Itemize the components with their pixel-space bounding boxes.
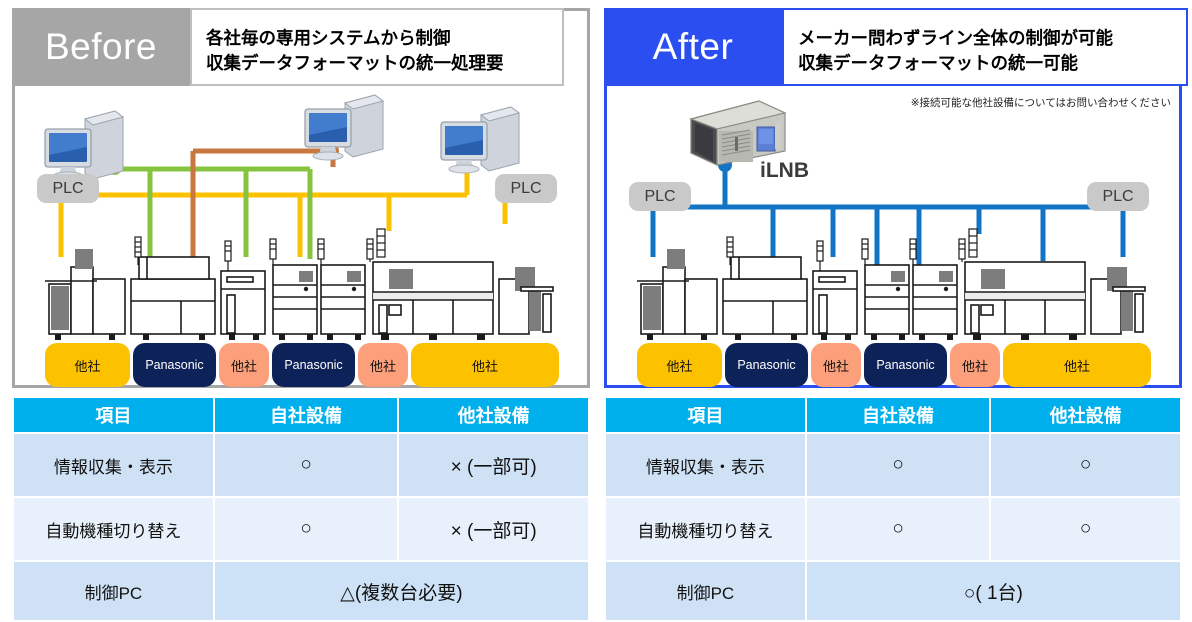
before-th-item: 項目 (14, 398, 213, 432)
before-headline-line2: 収集データフォーマットの統一処理要 (206, 51, 552, 76)
after-r0-other: ○ (991, 434, 1180, 496)
after-vendor-2: 他社 (811, 343, 861, 387)
after-vendor-1: Panasonic (725, 343, 808, 387)
before-panel: Before 各社毎の専用システムから制御 収集データフォーマットの統一処理要 (12, 8, 590, 388)
before-header: Before 各社毎の専用システムから制御 収集データフォーマットの統一処理要 (12, 8, 564, 86)
table-header-row: 項目 自社設備 他社設備 (14, 398, 588, 432)
after-plc-right: PLC (1087, 182, 1149, 211)
after-smt-line-machines (637, 249, 1145, 340)
after-headline-line1: メーカー問わずライン全体の制御が可能 (798, 26, 1176, 51)
table-row: 制御PC ○( 1台) (606, 562, 1180, 620)
before-plc-right: PLC (495, 174, 557, 203)
before-r2-merged: △(複数台必要) (215, 562, 588, 620)
table-row: 制御PC △(複数台必要) (14, 562, 588, 620)
before-headline: 各社毎の専用システムから制御 収集データフォーマットの統一処理要 (190, 8, 564, 86)
before-vendor-2: 他社 (219, 343, 269, 387)
after-vendor-3: Panasonic (864, 343, 947, 387)
after-th-own: 自社設備 (807, 398, 990, 432)
after-panel: After メーカー問わずライン全体の制御が可能 収集データフォーマットの統一可… (604, 8, 1182, 388)
table-row: 自動機種切り替え ○ × (一部可) (14, 498, 588, 560)
after-r0-own: ○ (807, 434, 990, 496)
before-r1-other: × (一部可) (399, 498, 588, 560)
after-headline: メーカー問わずライン全体の制御が可能 収集データフォーマットの統一可能 (782, 8, 1188, 86)
before-r1-own: ○ (215, 498, 398, 560)
before-vendor-5: 他社 (411, 343, 559, 387)
after-headline-line2: 収集データフォーマットの統一可能 (798, 51, 1176, 76)
after-badge: After (604, 8, 782, 86)
after-vendor-0: 他社 (637, 343, 722, 387)
before-vendor-1: Panasonic (133, 343, 216, 387)
after-vendor-5: 他社 (1003, 343, 1151, 387)
before-badge: Before (12, 8, 190, 86)
before-plc-left: PLC (37, 174, 99, 203)
table-row: 自動機種切り替え ○ ○ (606, 498, 1180, 560)
before-vendor-4: 他社 (358, 343, 408, 387)
pc-workstation-right (441, 107, 519, 173)
table-row: 情報収集・表示 ○ ○ (606, 434, 1180, 496)
ilnb-label: iLNB (760, 159, 809, 183)
after-plc-left: PLC (629, 182, 691, 211)
before-vendor-0: 他社 (45, 343, 130, 387)
green-link-group (115, 169, 310, 265)
pc-workstation-left (45, 111, 123, 180)
before-comparison-table: 項目 自社設備 他社設備 情報収集・表示 ○ × (一部可) 自動機種切り替え … (12, 396, 590, 622)
after-r1-other: ○ (991, 498, 1180, 560)
after-diagram: iLNB PLC PLC 他社 Panasonic 他社 Panasonic 他… (607, 89, 1179, 385)
after-vendor-4: 他社 (950, 343, 1000, 387)
before-r0-other: × (一部可) (399, 434, 588, 496)
before-r0-own: ○ (215, 434, 398, 496)
after-th-item: 項目 (606, 398, 805, 432)
smt-line-machines (45, 249, 553, 340)
after-r1-own: ○ (807, 498, 990, 560)
before-vendor-3: Panasonic (272, 343, 355, 387)
ilnb-server-icon (691, 101, 785, 165)
before-r1-label: 自動機種切り替え (14, 498, 213, 560)
after-th-other: 他社設備 (991, 398, 1180, 432)
after-r0-label: 情報収集・表示 (606, 434, 805, 496)
before-th-other: 他社設備 (399, 398, 588, 432)
before-headline-line1: 各社毎の専用システムから制御 (206, 26, 552, 51)
after-comparison-table: 項目 自社設備 他社設備 情報収集・表示 ○ ○ 自動機種切り替え ○ ○ 制御… (604, 396, 1182, 622)
before-r2-label: 制御PC (14, 562, 213, 620)
comparison-slide: Before 各社毎の専用システムから制御 収集データフォーマットの統一処理要 (0, 0, 1192, 617)
table-header-row: 項目 自社設備 他社設備 (606, 398, 1180, 432)
yellow-link-group (61, 167, 505, 257)
table-row: 情報収集・表示 ○ × (一部可) (14, 434, 588, 496)
before-th-own: 自社設備 (215, 398, 398, 432)
after-r1-label: 自動機種切り替え (606, 498, 805, 560)
after-r2-label: 制御PC (606, 562, 805, 620)
after-header: After メーカー問わずライン全体の制御が可能 収集データフォーマットの統一可… (604, 8, 1188, 86)
before-diagram: PLC PLC 他社 Panasonic 他社 Panasonic 他社 他社 (15, 89, 587, 385)
after-r2-merged: ○( 1台) (807, 562, 1180, 620)
before-r0-label: 情報収集・表示 (14, 434, 213, 496)
blue-link-group (653, 165, 1123, 265)
